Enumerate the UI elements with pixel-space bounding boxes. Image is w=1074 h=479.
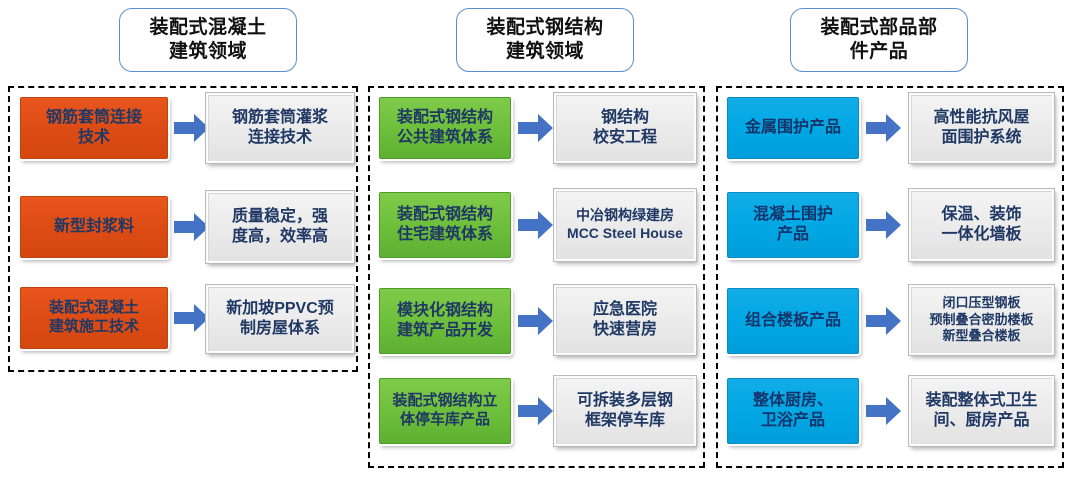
target-box[interactable]: 应急医院 快速营房 bbox=[554, 285, 696, 355]
source-box[interactable]: 装配式钢结构 公共建筑体系 bbox=[379, 97, 511, 159]
target-text-line2: MCC Steel House bbox=[567, 225, 683, 243]
target-text-line1: 质量稳定，强 bbox=[232, 207, 328, 227]
target-box[interactable]: 钢筋套筒灌浆 连接技术 bbox=[206, 93, 354, 163]
source-text-line2: 住宅建筑体系 bbox=[397, 225, 493, 245]
target-text-line2: 校安工程 bbox=[593, 128, 657, 148]
target-text-line1: 新加坡PPVC预 bbox=[226, 299, 334, 319]
source-text-line1: 组合楼板产品 bbox=[745, 311, 841, 331]
target-box[interactable]: 装配整体式卫生 间、厨房产品 bbox=[909, 376, 1054, 446]
diagram-canvas: 装配式混凝土 建筑领域 装配式钢结构 建筑领域 装配式部品部 件产品 钢筋套筒连… bbox=[0, 0, 1074, 479]
source-box[interactable]: 金属围护产品 bbox=[727, 97, 859, 159]
source-box[interactable]: 模块化钢结构 建筑产品开发 bbox=[379, 288, 511, 354]
column-header-line1: 装配式钢结构 bbox=[486, 16, 603, 40]
target-text-line3: 新型叠合楼板 bbox=[929, 328, 1033, 344]
source-text-line2: 技术 bbox=[46, 128, 142, 148]
target-box[interactable]: 可拆装多层钢 框架停车库 bbox=[554, 376, 696, 446]
column-header-components: 装配式部品部 件产品 bbox=[790, 8, 968, 72]
source-box[interactable]: 整体厨房、 卫浴产品 bbox=[727, 378, 859, 444]
target-text-line2: 快速营房 bbox=[593, 320, 657, 340]
source-text-line1: 装配式钢结构 bbox=[397, 205, 493, 225]
source-box[interactable]: 装配式混凝土 建筑施工技术 bbox=[20, 287, 168, 349]
source-text-line1: 钢筋套筒连接 bbox=[46, 108, 142, 128]
target-text-line2: 连接技术 bbox=[232, 128, 328, 148]
source-box[interactable]: 新型封浆料 bbox=[20, 196, 168, 258]
target-text-line1: 钢结构 bbox=[593, 108, 657, 128]
target-text-line2: 一体化墙板 bbox=[941, 225, 1021, 245]
source-text-line1: 新型封浆料 bbox=[54, 217, 134, 237]
source-text-line1: 混凝土围护 bbox=[753, 205, 833, 225]
target-text-line2: 框架停车库 bbox=[577, 411, 673, 431]
column-header-precast-concrete: 装配式混凝土 建筑领域 bbox=[119, 8, 297, 72]
target-text-line1: 中冶钢构绿建房 bbox=[567, 207, 683, 225]
column-header-line2: 建筑领域 bbox=[486, 40, 603, 64]
block-arrow-right-icon bbox=[866, 396, 902, 426]
target-text-line2: 间、厨房产品 bbox=[925, 411, 1037, 431]
target-text-line1: 闭口压型钢板 bbox=[929, 295, 1033, 311]
block-arrow-right-icon bbox=[518, 113, 554, 143]
column-header-steel-structure: 装配式钢结构 建筑领域 bbox=[456, 8, 634, 72]
target-text-line2: 面围护系统 bbox=[933, 128, 1029, 148]
target-box[interactable]: 中冶钢构绿建房 MCC Steel House bbox=[554, 189, 696, 261]
block-arrow-right-icon bbox=[518, 396, 554, 426]
target-text-line1: 钢筋套筒灌浆 bbox=[232, 108, 328, 128]
source-text-line1: 金属围护产品 bbox=[745, 118, 841, 138]
column-header-line2: 建筑领域 bbox=[149, 40, 266, 64]
target-text-line1: 装配整体式卫生 bbox=[925, 391, 1037, 411]
column-header-line1: 装配式混凝土 bbox=[149, 16, 266, 40]
target-text-line2: 度高，效率高 bbox=[232, 227, 328, 247]
block-arrow-right-icon bbox=[174, 113, 210, 143]
source-box[interactable]: 混凝土围护 产品 bbox=[727, 192, 859, 258]
target-box[interactable]: 闭口压型钢板 预制叠合密肋楼板 新型叠合楼板 bbox=[909, 285, 1054, 355]
source-box[interactable]: 组合楼板产品 bbox=[727, 288, 859, 354]
source-text-line1: 整体厨房、 bbox=[753, 391, 833, 411]
block-arrow-right-icon bbox=[174, 303, 210, 333]
block-arrow-right-icon bbox=[518, 306, 554, 336]
block-arrow-right-icon bbox=[866, 306, 902, 336]
target-text-line2: 预制叠合密肋楼板 bbox=[929, 312, 1033, 328]
target-box[interactable]: 保温、装饰 一体化墙板 bbox=[909, 189, 1054, 261]
target-text-line1: 保温、装饰 bbox=[941, 205, 1021, 225]
target-box[interactable]: 钢结构 校安工程 bbox=[554, 93, 696, 163]
target-box[interactable]: 新加坡PPVC预 制房屋体系 bbox=[206, 285, 354, 353]
source-text-line1: 装配式钢结构立 bbox=[392, 392, 497, 411]
target-text-line1: 可拆装多层钢 bbox=[577, 391, 673, 411]
target-box[interactable]: 质量稳定，强 度高，效率高 bbox=[206, 191, 354, 263]
source-text-line2: 建筑产品开发 bbox=[397, 321, 493, 341]
target-text-line1: 高性能抗风屋 bbox=[933, 108, 1029, 128]
source-text-line1: 模块化钢结构 bbox=[397, 301, 493, 321]
source-box[interactable]: 钢筋套筒连接 技术 bbox=[20, 97, 168, 159]
source-box[interactable]: 装配式钢结构立 体停车库产品 bbox=[379, 378, 511, 444]
source-text-line2: 卫浴产品 bbox=[753, 411, 833, 431]
source-text-line1: 装配式混凝土 bbox=[49, 299, 139, 318]
source-text-line1: 装配式钢结构 bbox=[397, 108, 493, 128]
source-text-line2: 公共建筑体系 bbox=[397, 128, 493, 148]
source-text-line2: 产品 bbox=[753, 225, 833, 245]
block-arrow-right-icon bbox=[518, 210, 554, 240]
target-text-line2: 制房屋体系 bbox=[226, 319, 334, 339]
source-text-line2: 体停车库产品 bbox=[392, 411, 497, 430]
block-arrow-right-icon bbox=[174, 212, 210, 242]
column-header-line2: 件产品 bbox=[820, 40, 937, 64]
source-text-line2: 建筑施工技术 bbox=[49, 318, 139, 337]
column-header-line1: 装配式部品部 bbox=[820, 16, 937, 40]
source-box[interactable]: 装配式钢结构 住宅建筑体系 bbox=[379, 192, 511, 258]
block-arrow-right-icon bbox=[866, 113, 902, 143]
target-box[interactable]: 高性能抗风屋 面围护系统 bbox=[909, 93, 1054, 163]
target-text-line1: 应急医院 bbox=[593, 300, 657, 320]
block-arrow-right-icon bbox=[866, 210, 902, 240]
